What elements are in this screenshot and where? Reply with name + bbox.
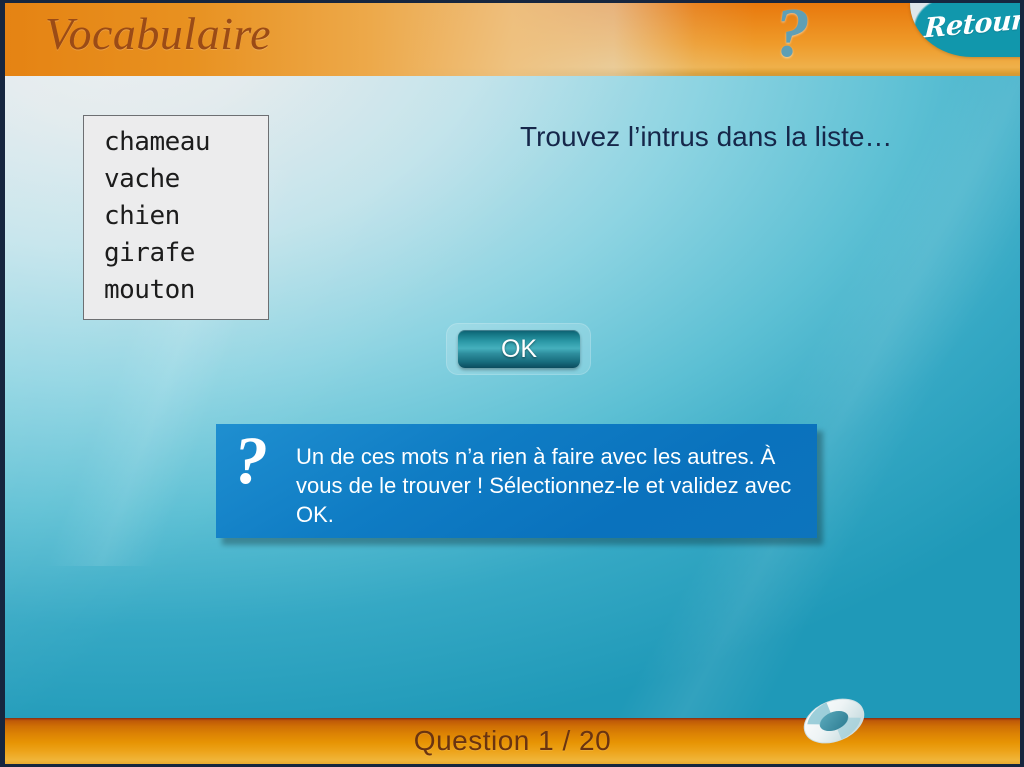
instruction-text: Un de ces mots n’a rien à faire avec les… xyxy=(296,442,796,529)
page-title: Vocabulaire xyxy=(45,7,271,60)
back-button-label: Retour xyxy=(923,4,1020,44)
ring-logo-icon xyxy=(800,696,868,746)
background-light-streak xyxy=(472,64,1024,767)
list-item[interactable]: mouton xyxy=(84,272,268,309)
application-window: Vocabulaire ? Retour chameau vache chien… xyxy=(0,0,1024,767)
prompt-text: Trouvez l’intrus dans la liste… xyxy=(520,121,892,153)
list-item[interactable]: vache xyxy=(84,161,268,198)
ok-button-frame: OK xyxy=(446,323,591,375)
ok-button[interactable]: OK xyxy=(458,330,580,368)
word-list-box[interactable]: chameau vache chien girafe mouton xyxy=(83,115,269,320)
info-question-mark-icon: ? xyxy=(234,426,268,494)
help-question-mark-icon[interactable]: ? xyxy=(775,3,810,69)
back-button[interactable]: Retour xyxy=(910,3,1020,57)
list-item[interactable]: chien xyxy=(84,198,268,235)
app-header: Vocabulaire ? Retour xyxy=(5,3,1020,76)
list-item[interactable]: chameau xyxy=(84,124,268,161)
list-item[interactable]: girafe xyxy=(84,235,268,272)
instruction-panel: ? Un de ces mots n’a rien à faire avec l… xyxy=(216,424,817,538)
